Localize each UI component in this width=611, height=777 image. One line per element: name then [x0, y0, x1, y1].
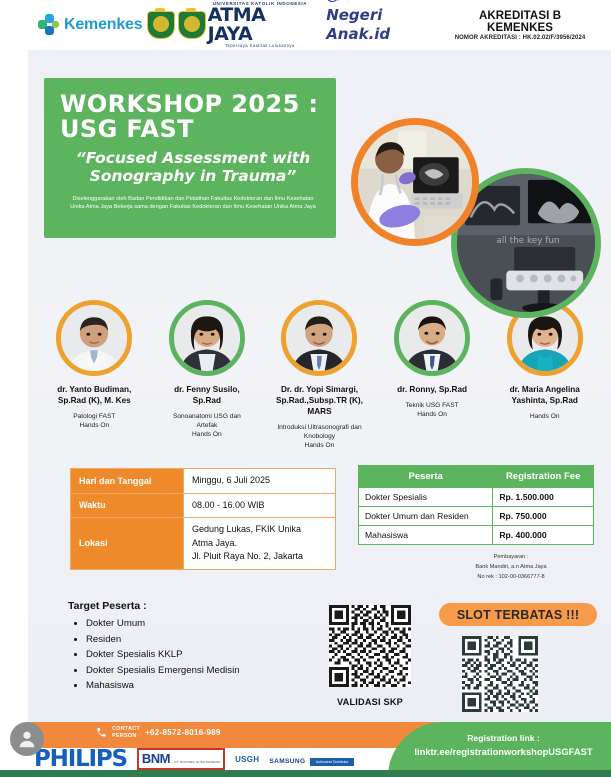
- fee-header-1: Registration Fee: [493, 466, 594, 488]
- info-value-2: Gedung Lukas, FKIK UnikaAtma Jaya.Jl. Pl…: [184, 518, 336, 570]
- fee-amount-1: Rp. 750.000: [493, 507, 594, 526]
- info-key-0: Hari dan Tanggal: [71, 469, 184, 494]
- speaker-name-4: dr. Ronny, Sp.Rad: [376, 384, 489, 395]
- bnm-logo: BNM PT. BINTANG NUSA MANDIRI: [137, 748, 225, 770]
- accreditation-title: AKREDITASI B KEMENKES: [447, 10, 593, 34]
- kemenkes-logo: Kemenkes: [38, 14, 142, 36]
- atmajaya-logo: UNIVERSITAS KATOLIK INDONESIA ATMA JAYA …: [208, 2, 313, 49]
- kemenkes-label: Kemenkes: [64, 16, 142, 34]
- fee-table-head: Peserta Registration Fee: [359, 466, 594, 488]
- registration-link-label: Registration link :: [396, 733, 611, 743]
- speaker-card-1: dr. Yanto Budiman,Sp.Rad (K), M. Kes Pat…: [38, 300, 151, 451]
- stethoscope-icon: [322, 0, 352, 7]
- info-value-0: Minggu, 6 Juli 2025: [184, 469, 336, 494]
- samsung-logo: SAMSUNG Authorized Distributor: [269, 750, 354, 768]
- event-info-table: Hari dan Tanggal Minggu, 6 Juli 2025 Wak…: [70, 468, 336, 570]
- info-key-2: Lokasi: [71, 518, 184, 570]
- avatar[interactable]: [10, 722, 44, 756]
- workshop-title: WORKSHOP 2025 : USG FAST: [60, 92, 326, 142]
- hero-photo-doctor: [351, 118, 479, 246]
- speaker-role-3: Introduksi Ultrasonografi danKnobologyHa…: [263, 424, 376, 451]
- fee-participant-0: Dokter Spesialis: [359, 488, 493, 507]
- workshop-organizer-text: Diselenggarakan oleh Badan Pendidikan da…: [60, 195, 326, 212]
- speakers-row: dr. Yanto Budiman,Sp.Rad (K), M. Kes Pat…: [38, 300, 601, 451]
- validasi-skp-label: VALIDASI SKP: [329, 697, 411, 707]
- table-row: Lokasi Gedung Lukas, FKIK UnikaAtma Jaya…: [71, 518, 336, 570]
- target-title: Target Peserta :: [68, 600, 318, 612]
- table-row: Hari dan Tanggal Minggu, 6 Juli 2025: [71, 469, 336, 494]
- contact-person-block: CONTACTPERSON +62-8572-8016-989: [96, 726, 221, 740]
- info-key-1: Waktu: [71, 493, 184, 518]
- payment-note: Pembayaran :Bank Mandiri, a.n Atma JayaN…: [428, 553, 594, 582]
- workshop-subtitle-line1: “Focused Assessment with: [60, 150, 326, 168]
- workshop-title-line2: USG FAST: [60, 117, 326, 142]
- poster-sheet: WORKSHOP 2025 : USG FAST “Focused Assess…: [28, 50, 611, 722]
- portrait-icon-4: [399, 305, 465, 371]
- samsung-label: SAMSUNG: [269, 758, 305, 765]
- validasi-skp-block: VALIDASI SKP: [329, 605, 411, 707]
- event-info-body: Hari dan Tanggal Minggu, 6 Juli 2025 Wak…: [71, 469, 336, 570]
- list-item: Dokter Spesialis Emergensi Medisin: [86, 663, 318, 679]
- workshop-subtitle-line2: Sonography in Trauma”: [60, 168, 326, 186]
- speaker-name-5: dr. Maria AngelinaYashinta, Sp.Rad: [488, 384, 601, 406]
- accreditation-block: AKREDITASI B KEMENKES NOMOR AKREDITASI :…: [447, 10, 593, 41]
- table-row: Waktu 08.00 - 16.00 WIB: [71, 493, 336, 518]
- list-item: Dokter Umum: [86, 616, 318, 632]
- speaker-card-5: dr. Maria AngelinaYashinta, Sp.Rad Hands…: [488, 300, 601, 451]
- accreditation-number: NOMOR AKREDITASI : HK.02.02/F/3956/2024: [447, 35, 593, 41]
- usgh-logo: USGH: [235, 755, 259, 764]
- negerianak-logo: Negeri Anak.id: [326, 6, 447, 44]
- speaker-photo-2: [169, 300, 245, 376]
- philips-logo: PHILIPS: [34, 746, 127, 772]
- speaker-role-2: Sonoanatomi USG danArtefakHands On: [151, 413, 264, 440]
- table-row: Dokter Spesialis Rp. 1.500.000: [359, 488, 594, 507]
- workshop-title-line1: WORKSHOP 2025 :: [60, 90, 318, 118]
- bnm-label: BNM: [142, 751, 170, 766]
- phone-icon: [96, 727, 107, 738]
- kemenkes-mark-icon: [38, 14, 60, 36]
- svg-text:all the key fun: all the key fun: [496, 236, 559, 246]
- registration-link-url[interactable]: linktr.ee/registrationworkshopUSGFAST: [396, 746, 611, 757]
- contact-phone-number[interactable]: +62-8572-8016-989: [145, 728, 221, 737]
- atmajaya-crest-icon: [147, 11, 172, 39]
- speaker-name-3: Dr. dr. Yopi Simargi,Sp.Rad.,Subsp.TR (K…: [263, 384, 376, 417]
- portrait-icon-1: [61, 305, 127, 371]
- list-item: Mahasiswa: [86, 678, 318, 694]
- registration-fee-table: Peserta Registration Fee Dokter Spesiali…: [358, 465, 594, 545]
- bnm-sublabel: PT. BINTANG NUSA MANDIRI: [174, 760, 220, 764]
- portrait-icon-2: [174, 305, 240, 371]
- contact-person-label: CONTACTPERSON: [112, 726, 140, 740]
- table-row: Dokter Umum dan Residen Rp. 750.000: [359, 507, 594, 526]
- atmajaya-crest-icon-2: [178, 11, 203, 39]
- speaker-card-3: Dr. dr. Yopi Simargi,Sp.Rad.,Subsp.TR (K…: [263, 300, 376, 451]
- bottom-bar: [0, 770, 611, 777]
- qr-code-validasi-skp[interactable]: [329, 605, 411, 687]
- fee-amount-2: Rp. 400.000: [493, 526, 594, 545]
- registration-link-block: Registration link : linktr.ee/registrati…: [396, 733, 611, 757]
- list-item: Residen: [86, 632, 318, 648]
- table-header-row: Peserta Registration Fee: [359, 466, 594, 488]
- speaker-role-1: Patologi FASTHands On: [38, 413, 151, 431]
- fee-table-body: Dokter Spesialis Rp. 1.500.000 Dokter Um…: [359, 488, 594, 545]
- hero-title-panel: WORKSHOP 2025 : USG FAST “Focused Assess…: [44, 78, 336, 238]
- portrait-icon-3: [286, 305, 352, 371]
- fee-participant-2: Mahasiswa: [359, 526, 493, 545]
- info-value-1: 08.00 - 16.00 WIB: [184, 493, 336, 518]
- samsung-sublabel: Authorized Distributor: [310, 758, 355, 766]
- target-participants: Target Peserta : Dokter Umum Residen Dok…: [68, 600, 318, 694]
- speaker-name-2: dr. Fenny Susilo,Sp.Rad: [151, 384, 264, 406]
- slot-terbatas-badge: SLOT TERBATAS !!!: [439, 603, 597, 626]
- speaker-role-5: Hands On: [488, 413, 601, 422]
- registration-qr-block: [462, 636, 538, 717]
- table-row: Mahasiswa Rp. 400.000: [359, 526, 594, 545]
- speaker-photo-3: [281, 300, 357, 376]
- speaker-name-1: dr. Yanto Budiman,Sp.Rad (K), M. Kes: [38, 384, 151, 406]
- speaker-photo-1: [56, 300, 132, 376]
- doctor-ultrasound-image: [358, 125, 472, 239]
- poster-root: Kemenkes UNIVERSITAS KATOLIK INDONESIA A…: [0, 0, 611, 777]
- speaker-card-4: dr. Ronny, Sp.Rad Teknik USG FASTHands O…: [376, 300, 489, 451]
- target-list: Dokter Umum Residen Dokter Spesialis KKL…: [68, 616, 318, 694]
- fee-participant-1: Dokter Umum dan Residen: [359, 507, 493, 526]
- atmajaya-name: ATMA JAYA: [208, 6, 313, 44]
- speaker-role-4: Teknik USG FASTHands On: [376, 402, 489, 420]
- list-item: Dokter Spesialis KKLP: [86, 647, 318, 663]
- negerianak-label: Negeri Anak.id: [326, 6, 390, 43]
- sponsor-logo-bar: Kemenkes UNIVERSITAS KATOLIK INDONESIA A…: [0, 0, 611, 50]
- workshop-subtitle: “Focused Assessment with Sonography in T…: [60, 150, 326, 186]
- fee-amount-0: Rp. 1.500.000: [493, 488, 594, 507]
- slot-terbatas-label: SLOT TERBATAS !!!: [457, 608, 579, 622]
- fee-header-0: Peserta: [359, 466, 493, 488]
- qr-code-registration[interactable]: [462, 636, 538, 712]
- speaker-card-2: dr. Fenny Susilo,Sp.Rad Sonoanatomi USG …: [151, 300, 264, 451]
- person-icon: [16, 728, 38, 750]
